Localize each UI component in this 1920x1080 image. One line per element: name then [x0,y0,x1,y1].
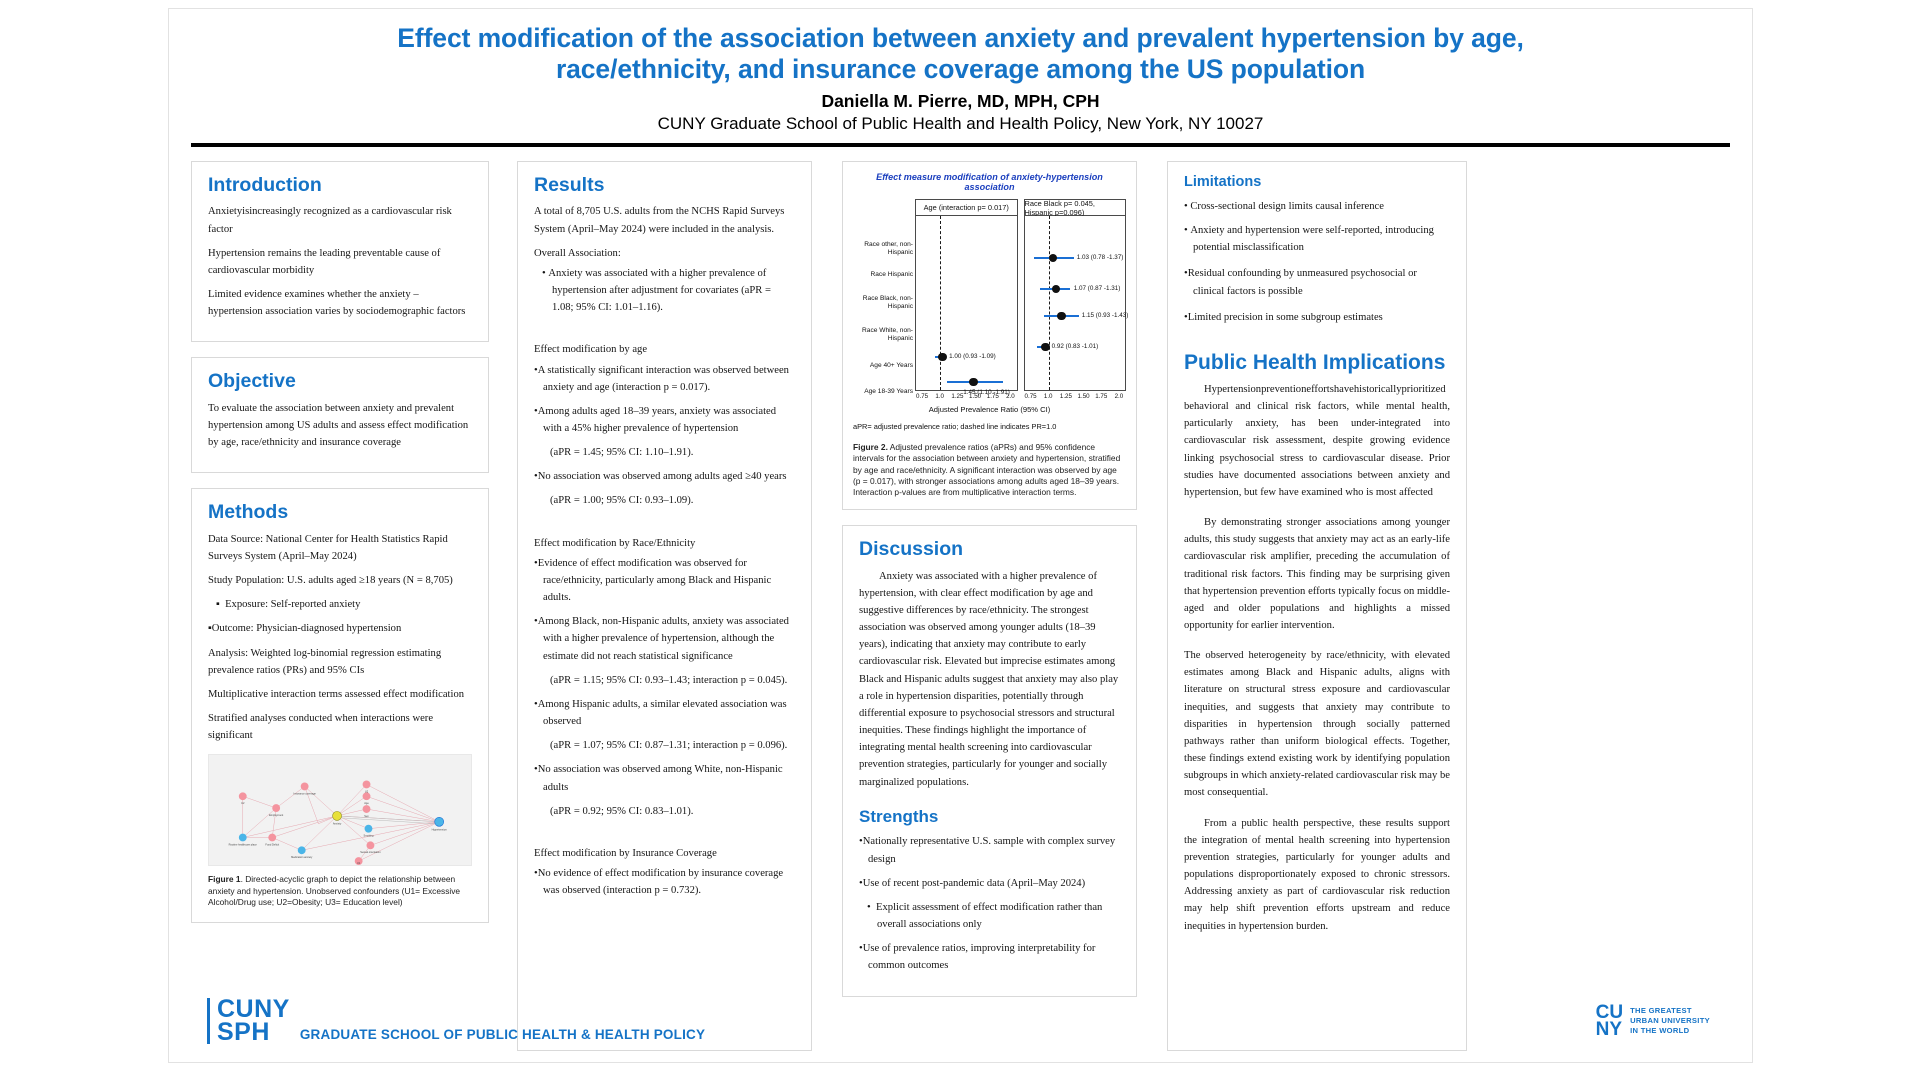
value-race-hispanic: 1.07 (0.87 -1.31) [1074,285,1121,292]
results-ins-b0: •No evidence of effect modification by i… [534,865,795,899]
results-overall-bullet-text: Anxiety was associated with a higher pre… [548,268,771,313]
xtick-age-1: 1.0 [935,393,944,400]
figure2-caption: Figure 2. Adjusted prevalence ratios (aP… [853,442,1126,498]
xtick-age-4: 1.75 [987,393,999,400]
panel-limitations-implications: Limitations • Cross-sectional design lim… [1167,161,1467,1051]
row-label-0: Race other, non-Hispanic [855,241,913,257]
results-age-heading: Effect modification by age [534,341,795,358]
logo-right-line-2: IN THE WORLD [1630,1026,1710,1036]
results-age-b1: •Among adults aged 18–39 years, anxiety … [534,403,795,437]
results-overall-label: Overall Association: [534,245,795,262]
strengths-b1: •Use of recent post-pandemic data (April… [859,875,1120,892]
logo-tagline: GRADUATE SCHOOL OF PUBLIC HEALTH & HEALT… [300,1027,705,1044]
marker-race-hispanic [1052,285,1061,294]
implications-p1: By demonstrating stronger associations a… [1184,514,1450,634]
strengths-b2-text: Explicit assessment of effect modificati… [876,902,1102,930]
panel-methods: Methods Data Source: National Center for… [191,488,489,923]
forest-panel-race: Race Black p= 0.045, Hispanic p=0.096) 1… [1024,199,1127,407]
column-right: Limitations • Cross-sectional design lim… [1167,161,1467,1066]
discussion-heading: Discussion [859,539,1120,560]
svg-text:Anxiety: Anxiety [333,822,342,826]
null-line-race [1049,216,1050,390]
svg-text:U1: U1 [357,861,361,865]
svg-text:Hypertension: Hypertension [432,828,448,832]
limitations-b2-text: Residual confounding by unmeasured psych… [1188,268,1417,296]
strengths-b1-text: Use of recent post-pandemic data (April–… [863,878,1085,889]
panel-discussion: Discussion Anxiety was associated with a… [842,525,1137,996]
figure1-caption: Figure 1. Directed-acyclic graph to depi… [208,874,472,908]
svg-text:Age: Age [364,801,369,805]
results-age-b3-text: No association was observed among adults… [538,471,787,482]
figure1-caption-text: . Directed-acyclic graph to depict the r… [208,874,460,907]
xtick-race-0: 0.75 [1025,393,1037,400]
svg-text:Medication anxiety: Medication anxiety [291,855,313,859]
introduction-p3: Limited evidence examines whether the an… [208,286,472,320]
xtick-race-2: 1.25 [1060,393,1072,400]
row-label-4: Age 40+ Years [855,362,913,370]
forest-plot-panels: Age (interaction p= 0.017) 1.00 (0.93 -1… [915,199,1126,407]
results-overall-bullet: • Anxiety was associated with a higher p… [534,265,795,316]
results-age-b4: (aPR = 1.00; 95% CI: 0.93–1.09). [534,492,795,509]
svg-text:Insurance coverage: Insurance coverage [293,792,316,796]
methods-line-3: ▪Outcome: Physician-diagnosed hypertensi… [208,620,472,637]
forest-plot-row-labels: Race other, non-Hispanic Race Hispanic R… [853,199,915,407]
methods-line-5: Multiplicative interaction terms assesse… [208,686,472,703]
limitations-b1-text: Anxiety and hypertension were self-repor… [1190,225,1434,253]
panel-introduction: Introduction Anxietyisincreasingly recog… [191,161,489,342]
methods-heading: Methods [208,502,472,523]
forest-axis-race: 0.75 1.0 1.25 1.50 1.75 2.0 [1024,391,1127,407]
results-ins-heading: Effect modification by Insurance Coverag… [534,845,795,862]
results-ins-b0-text: No evidence of effect modification by in… [538,868,783,896]
header-divider [191,143,1730,147]
author-name: Daniella M. Pierre, MD, MPH, CPH [209,91,1712,112]
results-race-b5-text: No association was observed among White,… [538,764,783,792]
forest-panel-age-plot: 1.00 (0.93 -1.09) 1.45 (1.10 -1.91) [915,216,1018,391]
marker-race-other [1049,254,1058,263]
results-age-b0: •A statistically significant interaction… [534,362,795,396]
page-title: Effect modification of the association b… [316,23,1606,85]
figure2-caption-label: Figure 2. [853,442,888,452]
svg-text:U2: U2 [241,801,245,805]
implications-p3: From a public health perspective, these … [1184,815,1450,935]
panel-objective: Objective To evaluate the association be… [191,357,489,473]
forest-panel-age-header: Age (interaction p= 0.017) [915,199,1018,216]
column-left: Introduction Anxietyisincreasingly recog… [191,161,489,1066]
results-race-b1-text: Among Black, non-Hispanic adults, anxiet… [538,616,789,661]
methods-line-3-text: Outcome: Physician-diagnosed hypertensio… [212,623,401,634]
panel-results: Results A total of 8,705 U.S. adults fro… [517,161,812,1051]
objective-p1: To evaluate the association between anxi… [208,400,472,451]
column-figure-discussion: Effect measure modification of anxiety-h… [842,161,1137,1066]
strengths-b3-text: Use of prevalence ratios, improving inte… [863,943,1096,971]
figure2-caption-text: Adjusted prevalence ratios (aPRs) and 95… [853,442,1120,497]
marker-race-black [1057,312,1066,321]
results-race-heading: Effect modification by Race/Ethnicity [534,535,795,552]
logo-sph-text: SPH [217,1021,290,1044]
xtick-race-4: 1.75 [1095,393,1107,400]
forest-panel-race-plot: 1.03 (0.78 -1.37) 1.07 (0.87 -1.31) [1024,216,1127,391]
xtick-age-5: 2.0 [1006,393,1015,400]
results-race-b4: (aPR = 1.07; 95% CI: 0.87–1.31; interact… [534,737,795,754]
poster-canvas: Effect modification of the association b… [168,8,1753,1063]
introduction-heading: Introduction [208,175,472,196]
strengths-b3: •Use of prevalence ratios, improving int… [859,940,1120,974]
poster-columns: Introduction Anxietyisincreasingly recog… [169,161,1752,1066]
row-label-5: Age 18-39 Years [855,388,913,396]
results-race-b0-text: Evidence of effect modification was obse… [538,558,771,603]
xtick-age-2: 1.25 [951,393,963,400]
forest-plot-title: Effect measure modification of anxiety-h… [853,172,1126,192]
objective-heading: Objective [208,371,472,392]
panel-figure2: Effect measure modification of anxiety-h… [842,161,1137,510]
right-spacer [1184,333,1450,351]
svg-text:Sexual orientation: Sexual orientation [360,850,381,854]
row-label-2: Race Black, non-Hispanic [855,295,913,311]
row-label-1: Race Hispanic [855,271,913,279]
logo-right-line-1: URBAN UNIVERSITY [1630,1016,1710,1026]
forest-axis-age: 0.75 1.0 1.25 1.50 1.75 2.0 [915,391,1018,407]
limitations-b1: • Anxiety and hypertension were self-rep… [1184,222,1450,256]
value-race-white: 0.92 (0.83 -1.01) [1052,343,1099,350]
methods-line-1: Study Population: U.S. adults aged ≥18 y… [208,572,472,589]
results-spacer-2 [534,517,795,535]
forest-panel-race-header: Race Black p= 0.045, Hispanic p=0.096) [1024,199,1127,216]
results-race-b3: •Among Hispanic adults, a similar elevat… [534,696,795,730]
svg-text:Food Deficit: Food Deficit [265,843,279,847]
author-affiliation: CUNY Graduate School of Public Health an… [209,114,1712,134]
results-race-b6: (aPR = 0.92; 95% CI: 0.83–1.01). [534,803,795,820]
strengths-b0-text: Nationally representative U.S. sample wi… [863,836,1115,864]
strengths-b2: • Explicit assessment of effect modifica… [859,899,1120,933]
svg-text:Sex: Sex [364,814,369,818]
results-age-b3: •No association was observed among adult… [534,468,795,485]
forest-footnote: aPR= adjusted prevalence ratio; dashed l… [853,422,1126,431]
implications-p2: The observed heterogeneity by race/ethni… [1184,647,1450,801]
marker-age-40plus [938,353,947,362]
figure1-dag: U2 Employment Insurance coverage Routine… [208,754,472,866]
results-age-b2: (aPR = 1.45; 95% CI: 1.10–1.91). [534,444,795,461]
methods-line-4: Analysis: Weighted log-binomial regressi… [208,645,472,679]
forest-panel-age: Age (interaction p= 0.017) 1.00 (0.93 -1… [915,199,1018,407]
forest-plot: Race other, non-Hispanic Race Hispanic R… [853,199,1126,407]
svg-text:U2: U2 [365,790,369,794]
strengths-heading: Strengths [859,808,1120,827]
results-intro: A total of 8,705 U.S. adults from the NC… [534,203,795,237]
results-race-b5: •No association was observed among White… [534,761,795,795]
strengths-b0: •Nationally representative U.S. sample w… [859,833,1120,867]
methods-line-0: Data Source: National Center for Health … [208,531,472,565]
discussion-paragraph: Anxiety was associated with a higher pre… [859,568,1120,791]
xtick-race-1: 1.0 [1044,393,1053,400]
logo-vertical-rule [207,998,210,1044]
xtick-age-3: 1.50 [969,393,981,400]
cuny-university-logo: CU NY THE GREATEST URBAN UNIVERSITY IN T… [1596,1004,1710,1038]
results-race-b0: •Evidence of effect modification was obs… [534,555,795,606]
value-age-40plus: 1.00 (0.93 -1.09) [949,353,996,360]
results-race-b2: (aPR = 1.15; 95% CI: 0.93–1.43; interact… [534,672,795,689]
dag-svg: U2 Employment Insurance coverage Routine… [209,755,471,865]
results-spacer-3 [534,827,795,845]
limitations-b0: • Cross-sectional design limits causal i… [1184,198,1450,215]
methods-line-2: ▪ Exposure: Self-reported anxiety [208,596,472,613]
svg-text:Routine healthcare place: Routine healthcare place [229,843,258,847]
methods-line-2-text: Exposure: Self-reported anxiety [225,599,360,610]
row-label-3: Race White, non-Hispanic [855,327,913,343]
marker-race-white [1041,343,1050,352]
cuny-sph-logo: CUNY SPH GRADUATE SCHOOL OF PUBLIC HEALT… [207,998,705,1044]
methods-line-6: Stratified analyses conducted when inter… [208,710,472,744]
logo-right-cuny-mark: CU NY [1596,1004,1623,1038]
svg-text:Smoking: Smoking [364,834,374,838]
value-race-other: 1.03 (0.78 -1.37) [1077,254,1124,261]
column-results: Results A total of 8,705 U.S. adults fro… [517,161,812,1066]
limitations-b0-text: Cross-sectional design limits causal inf… [1190,201,1384,212]
limitations-b3: •Limited precision in some subgroup esti… [1184,309,1450,326]
xtick-age-0: 0.75 [916,393,928,400]
results-race-b1: •Among Black, non-Hispanic adults, anxie… [534,613,795,664]
results-age-b0-text: A statistically significant interaction … [538,365,789,393]
methods-bullet-square: ▪ [216,599,225,610]
null-line-age [940,216,941,390]
introduction-p1: Anxietyisincreasingly recognized as a ca… [208,203,472,237]
bullet-dot-s2: • [867,902,876,913]
limitations-b3-text: Limited precision in some subgroup estim… [1188,312,1383,323]
marker-age-18to39 [969,378,978,387]
poster-header: Effect modification of the association b… [169,9,1752,134]
results-heading: Results [534,175,795,196]
limitations-heading: Limitations [1184,175,1450,191]
xtick-race-5: 2.0 [1115,393,1124,400]
results-race-b3-text: Among Hispanic adults, a similar elevate… [538,699,787,727]
results-spacer-1 [534,323,795,341]
xtick-race-3: 1.50 [1078,393,1090,400]
results-age-b1-text: Among adults aged 18–39 years, anxiety w… [538,406,776,434]
logo-right-tagline: THE GREATEST URBAN UNIVERSITY IN THE WOR… [1630,1006,1710,1035]
svg-text:Employment: Employment [269,813,283,817]
limitations-b2: •Residual confounding by unmeasured psyc… [1184,265,1450,299]
logo-right-line-0: THE GREATEST [1630,1006,1710,1016]
implications-heading: Public Health Implications [1184,351,1450,374]
logo-right-ny: NY [1596,1021,1623,1038]
figure1-caption-label: Figure 1 [208,874,241,884]
value-race-black: 1.15 (0.93 -1.43) [1082,312,1129,319]
implications-p0: Hypertensionpreventioneffortshavehistori… [1184,381,1450,501]
introduction-p2: Hypertension remains the leading prevent… [208,245,472,279]
